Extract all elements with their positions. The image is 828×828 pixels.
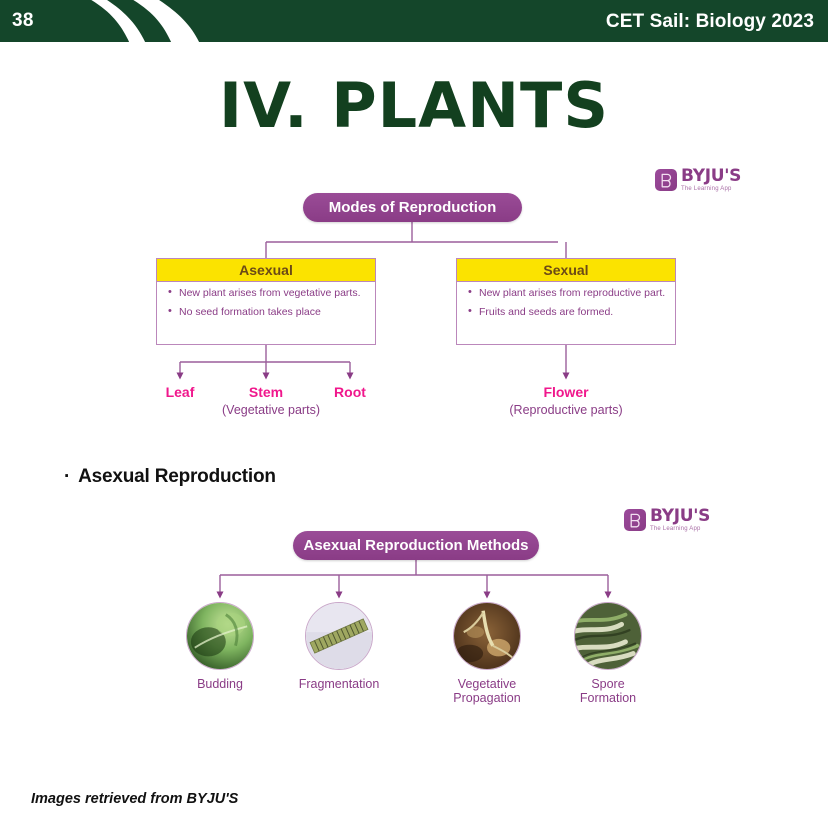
byjus-wordmark: BYJU'S The Learning App — [681, 168, 741, 192]
method-item-vegetative-propagation[interactable]: VegetativePropagation — [427, 602, 547, 705]
outcome-label-root: Root — [310, 384, 390, 400]
byjus-tagline: The Learning App — [681, 186, 741, 192]
fragmentation-photo — [305, 602, 373, 670]
category-box-asexual[interactable]: Asexual New plant arises from vegetative… — [156, 258, 376, 345]
method-label: SporeFormation — [548, 677, 668, 705]
byjus-logo-top: BYJU'S The Learning App — [655, 168, 741, 192]
category-title-sexual: Sexual — [457, 259, 675, 282]
byjus-wordmark: BYJU'S The Learning App — [650, 508, 710, 532]
method-label: Budding — [160, 677, 280, 691]
page-header-bar: 38 CET Sail: Biology 2023 — [0, 0, 828, 42]
budding-photo — [186, 602, 254, 670]
category-box-sexual[interactable]: Sexual New plant arises from reproductiv… — [456, 258, 676, 345]
bullet-item: New plant arises from vegetative parts. — [179, 288, 367, 300]
byjus-tagline: The Learning App — [650, 526, 710, 532]
category-title-asexual: Asexual — [157, 259, 375, 282]
flowchart-one-root-node[interactable]: Modes of Reproduction — [303, 193, 522, 222]
byjus-logo-bottom: BYJU'S The Learning App — [624, 508, 710, 532]
section-heading-asexual-reproduction: ·Asexual Reproduction — [64, 466, 276, 488]
bullet-item: New plant arises from reproductive part. — [479, 288, 667, 300]
category-body-asexual: New plant arises from vegetative parts. … — [157, 282, 375, 329]
outcome-note-reproductive: (Reproductive parts) — [476, 403, 656, 417]
header-swoosh-decoration — [0, 0, 260, 42]
bullet-item: No seed formation takes place — [179, 307, 367, 319]
outcome-label-flower: Flower — [526, 384, 606, 400]
outcome-label-leaf: Leaf — [140, 384, 220, 400]
method-item-spore-formation[interactable]: SporeFormation — [548, 602, 668, 705]
page-title: IV. PLANTS — [0, 73, 828, 139]
b-letter-icon — [629, 513, 642, 528]
outcome-note-vegetative: (Vegetative parts) — [186, 403, 356, 417]
method-item-fragmentation[interactable]: Fragmentation — [279, 602, 399, 691]
b-letter-icon — [660, 173, 673, 188]
bullet-item: Fruits and seeds are formed. — [479, 307, 667, 319]
byjus-name: BYJU'S — [650, 508, 710, 525]
section-bullet-icon: · — [64, 466, 70, 487]
section-heading-label: Asexual Reproduction — [78, 466, 276, 487]
spore-formation-photo — [574, 602, 642, 670]
method-label: Fragmentation — [279, 677, 399, 691]
byjus-b-mark-icon — [624, 509, 646, 531]
outcome-label-stem: Stem — [226, 384, 306, 400]
byjus-name: BYJU'S — [681, 168, 741, 185]
page-number: 38 — [12, 9, 34, 33]
method-item-budding[interactable]: Budding — [160, 602, 280, 691]
header-title: CET Sail: Biology 2023 — [606, 10, 814, 33]
byjus-b-mark-icon — [655, 169, 677, 191]
vegetative-propagation-photo — [453, 602, 521, 670]
flowchart-two-root-node[interactable]: Asexual Reproduction Methods — [293, 531, 539, 560]
method-label: VegetativePropagation — [427, 677, 547, 705]
category-body-sexual: New plant arises from reproductive part.… — [457, 282, 675, 329]
footer-attribution-note: Images retrieved from BYJU'S — [31, 791, 238, 807]
